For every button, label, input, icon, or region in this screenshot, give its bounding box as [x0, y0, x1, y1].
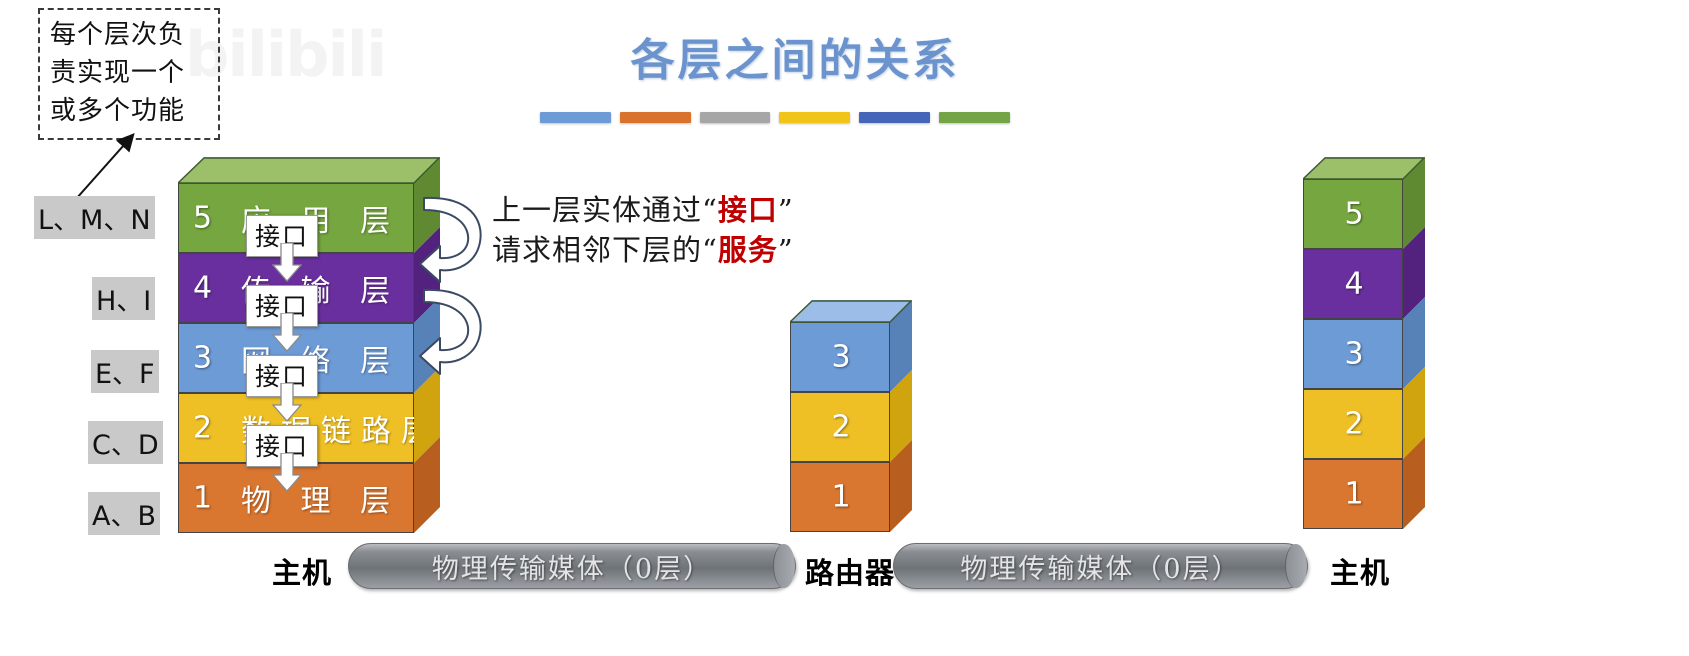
layer-3-front: 3	[1303, 319, 1403, 389]
layer-2-front: 2	[790, 392, 890, 462]
layer-number-3: 3	[791, 340, 891, 375]
layer-number-5: 5	[1304, 197, 1404, 232]
layer-2-front: 2	[1303, 389, 1403, 459]
physical-media-left-label: 物理传输媒体（0层）	[349, 544, 795, 588]
bar-navy	[859, 112, 930, 123]
host-right-stack: 54321	[1303, 157, 1415, 537]
expl-2-highlight: 服务	[718, 233, 778, 267]
side-label-hi: H、I	[92, 277, 155, 320]
physical-media-left: 物理传输媒体（0层）	[348, 543, 796, 589]
explanation-text: 上一层实体通过“接口” 请求相邻下层的“服务”	[492, 190, 794, 270]
layer-number-2: 2	[1304, 407, 1404, 442]
explanation-line-1: 上一层实体通过“接口”	[492, 190, 794, 230]
expl-1-pre: 上一层实体通过“	[492, 193, 718, 227]
curved-arrow-lower	[418, 278, 488, 458]
bar-yellow	[779, 112, 850, 123]
page-title: 各层之间的关系	[560, 24, 1030, 88]
side-label-ab: A、B	[88, 492, 160, 535]
expl-1-highlight: 接口	[718, 193, 778, 227]
router-stack: 321	[790, 300, 905, 535]
layer-5-front: 5	[1303, 179, 1403, 249]
layer-number-4: 4	[193, 271, 212, 306]
layer-3-front: 3	[790, 322, 890, 392]
layer-number-5: 5	[193, 201, 212, 236]
layer-1-front: 1	[790, 462, 890, 532]
side-label-cd: C、D	[88, 421, 163, 464]
callout-line-2: 责实现一个	[50, 54, 220, 92]
layer-4-front: 4	[1303, 249, 1403, 319]
physical-media-right: 物理传输媒体（0层）	[893, 543, 1308, 589]
layer-number-2: 2	[791, 410, 891, 445]
side-label-lmn: L、M、N	[34, 196, 155, 239]
interface-down-arrow-4	[272, 453, 302, 498]
layer-1-front: 1	[1303, 459, 1403, 529]
layer-number-1: 1	[1304, 477, 1404, 512]
bar-orange	[620, 112, 691, 123]
bar-green	[939, 112, 1010, 123]
expl-1-post: ”	[778, 193, 794, 227]
expl-2-pre: 请求相邻下层的“	[492, 233, 718, 267]
bar-gray	[700, 112, 771, 123]
layer-number-1: 1	[193, 481, 212, 516]
interface-down-arrow-2	[272, 313, 302, 358]
side-label-ef: E、F	[91, 350, 159, 393]
explanation-line-2: 请求相邻下层的“服务”	[492, 230, 794, 270]
callout-text: 每个层次负 责实现一个 或多个功能	[50, 16, 220, 130]
layer-number-1: 1	[791, 480, 891, 515]
interface-down-arrow-3	[272, 383, 302, 428]
physical-media-right-label: 物理传输媒体（0层）	[894, 544, 1307, 588]
layer-number-3: 3	[1304, 337, 1404, 372]
expl-2-post: ”	[778, 233, 794, 267]
layer-name-1: 物 理 层	[241, 476, 400, 520]
node-label-router: 路由器	[805, 550, 895, 592]
slide-canvas: bilibili 各层之间的关系 每个层次负 责实现一个 或多个功能 L、M、N…	[0, 0, 1689, 656]
title-accent-bars	[540, 112, 1010, 123]
stack-top-face	[178, 157, 440, 183]
bar-blue	[540, 112, 611, 123]
callout-line-1: 每个层次负	[50, 16, 220, 54]
node-label-host-left: 主机	[272, 550, 332, 592]
callout-line-3: 或多个功能	[50, 92, 220, 130]
layer-number-2: 2	[193, 411, 212, 446]
layer-number-3: 3	[193, 341, 212, 376]
interface-down-arrow-1	[272, 243, 302, 288]
node-label-host-right: 主机	[1330, 550, 1390, 592]
layer-number-4: 4	[1304, 267, 1404, 302]
